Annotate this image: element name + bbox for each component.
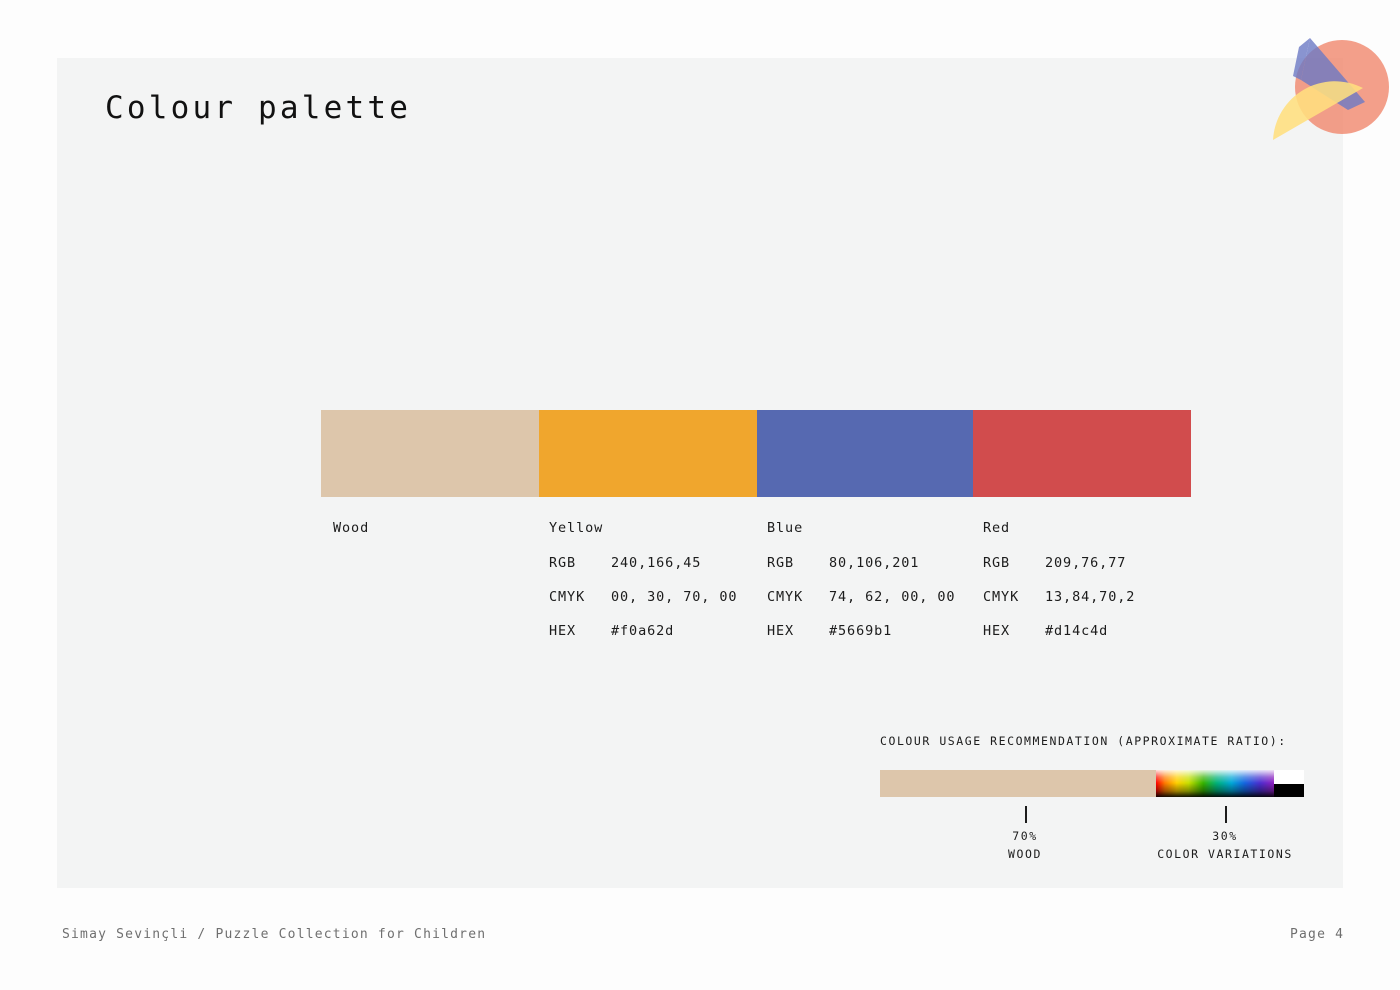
colour-spec-row: RGB80,106,201 [767,555,982,571]
colour-spec-row: CMYK13,84,70,2 [983,589,1198,605]
swatch-white [1274,770,1304,784]
ratio-percent: 70% [1008,828,1042,846]
ratio-label-text: COLOR VARIATIONS [1157,846,1293,864]
ratio-label-text: WOOD [1008,846,1042,864]
colour-swatch-band [321,410,1191,497]
ratio-tick-label: 70%WOOD [1008,828,1042,864]
ratio-tick-mark [1025,806,1027,823]
page-title: Colour palette [105,90,411,126]
spec-key: RGB [983,555,1045,571]
colour-info-column-red: RedRGB209,76,77CMYK13,84,70,2HEX#d14c4d [983,520,1198,657]
ratio-percent: 30% [1157,828,1293,846]
swatch-red[interactable] [973,410,1191,497]
swatch-black [1274,784,1304,798]
spec-value: 209,76,77 [1045,555,1198,571]
ratio-tick-label: 30%COLOR VARIATIONS [1157,828,1293,864]
swatch-yellow[interactable] [539,410,757,497]
colour-spec-row: CMYK74, 62, 00, 00 [767,589,982,605]
spec-value: 240,166,45 [611,555,764,571]
spec-key: CMYK [549,589,611,605]
usage-ratio-bar: 70%WOOD30%COLOR VARIATIONS [880,770,1304,797]
spec-key: CMYK [983,589,1045,605]
spec-value: 00, 30, 70, 00 [611,589,764,605]
spec-key: CMYK [767,589,829,605]
colour-spec-row: RGB209,76,77 [983,555,1198,571]
ratio-segment-wood [880,770,1156,797]
colour-spec-row: RGB240,166,45 [549,555,764,571]
slide-canvas: Colour palette WoodYellowRGB240,166,45CM… [57,58,1343,888]
colour-name-label: Red [983,520,1198,536]
colour-info-column-wood: Wood [333,520,548,555]
colour-info-column-blue: BlueRGB80,106,201CMYK74, 62, 00, 00HEX#5… [767,520,982,657]
spec-key: HEX [983,623,1045,639]
swatch-wood[interactable] [321,410,539,497]
colour-spec-row: HEX#d14c4d [983,623,1198,639]
colour-spec-row: CMYK00, 30, 70, 00 [549,589,764,605]
colour-spec-row: HEX#f0a62d [549,623,764,639]
ratio-segment-color-variations [1156,770,1304,797]
spectrum-endcaps [1274,770,1304,797]
footer-page-number: Page 4 [1290,927,1344,942]
colour-usage-block: COLOUR USAGE RECOMMENDATION (APPROXIMATE… [880,734,1320,797]
colour-name-label: Wood [333,520,548,536]
spec-key: HEX [767,623,829,639]
spec-value: 80,106,201 [829,555,982,571]
ratio-tick-mark [1225,806,1227,823]
spec-value: #f0a62d [611,623,764,639]
footer-credit: Simay Sevinçli / Puzzle Collection for C… [62,927,486,942]
spec-value: 13,84,70,2 [1045,589,1198,605]
usage-caption: COLOUR USAGE RECOMMENDATION (APPROXIMATE… [880,734,1320,748]
colour-info-column-yellow: YellowRGB240,166,45CMYK00, 30, 70, 00HEX… [549,520,764,657]
spec-value: #5669b1 [829,623,982,639]
spec-key: HEX [549,623,611,639]
colour-name-label: Yellow [549,520,764,536]
colour-spec-row: HEX#5669b1 [767,623,982,639]
colour-info-columns: WoodYellowRGB240,166,45CMYK00, 30, 70, 0… [321,520,1221,650]
spec-value: 74, 62, 00, 00 [829,589,982,605]
spec-key: RGB [767,555,829,571]
swatch-blue[interactable] [757,410,973,497]
spec-key: RGB [549,555,611,571]
colour-name-label: Blue [767,520,982,536]
spec-value: #d14c4d [1045,623,1198,639]
